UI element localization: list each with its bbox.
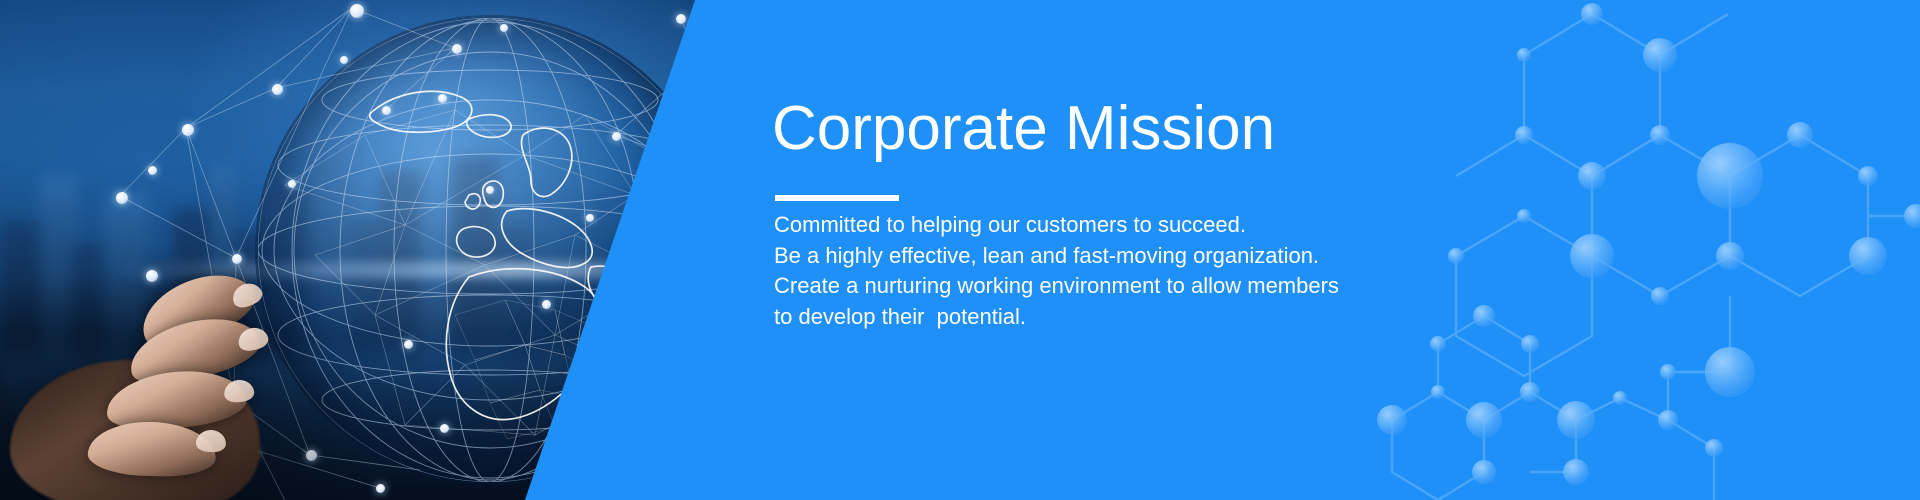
mission-line-2: Be a highly effective, lean and fast-mov…	[774, 241, 1414, 272]
title-accent-bar	[775, 195, 899, 201]
human-hand	[10, 280, 370, 500]
mission-line-3: Create a nurturing working environment t…	[774, 271, 1414, 302]
mission-line-1: Committed to helping our customers to su…	[774, 210, 1414, 241]
mission-statement: Committed to helping our customers to su…	[774, 210, 1414, 332]
page-title: Corporate Mission	[772, 98, 1275, 160]
mission-content: Corporate Mission Committed to helping o…	[772, 0, 1472, 500]
corporate-mission-banner: Corporate Mission Committed to helping o…	[0, 0, 1920, 500]
mission-line-4: to develop their potential.	[774, 302, 1414, 333]
